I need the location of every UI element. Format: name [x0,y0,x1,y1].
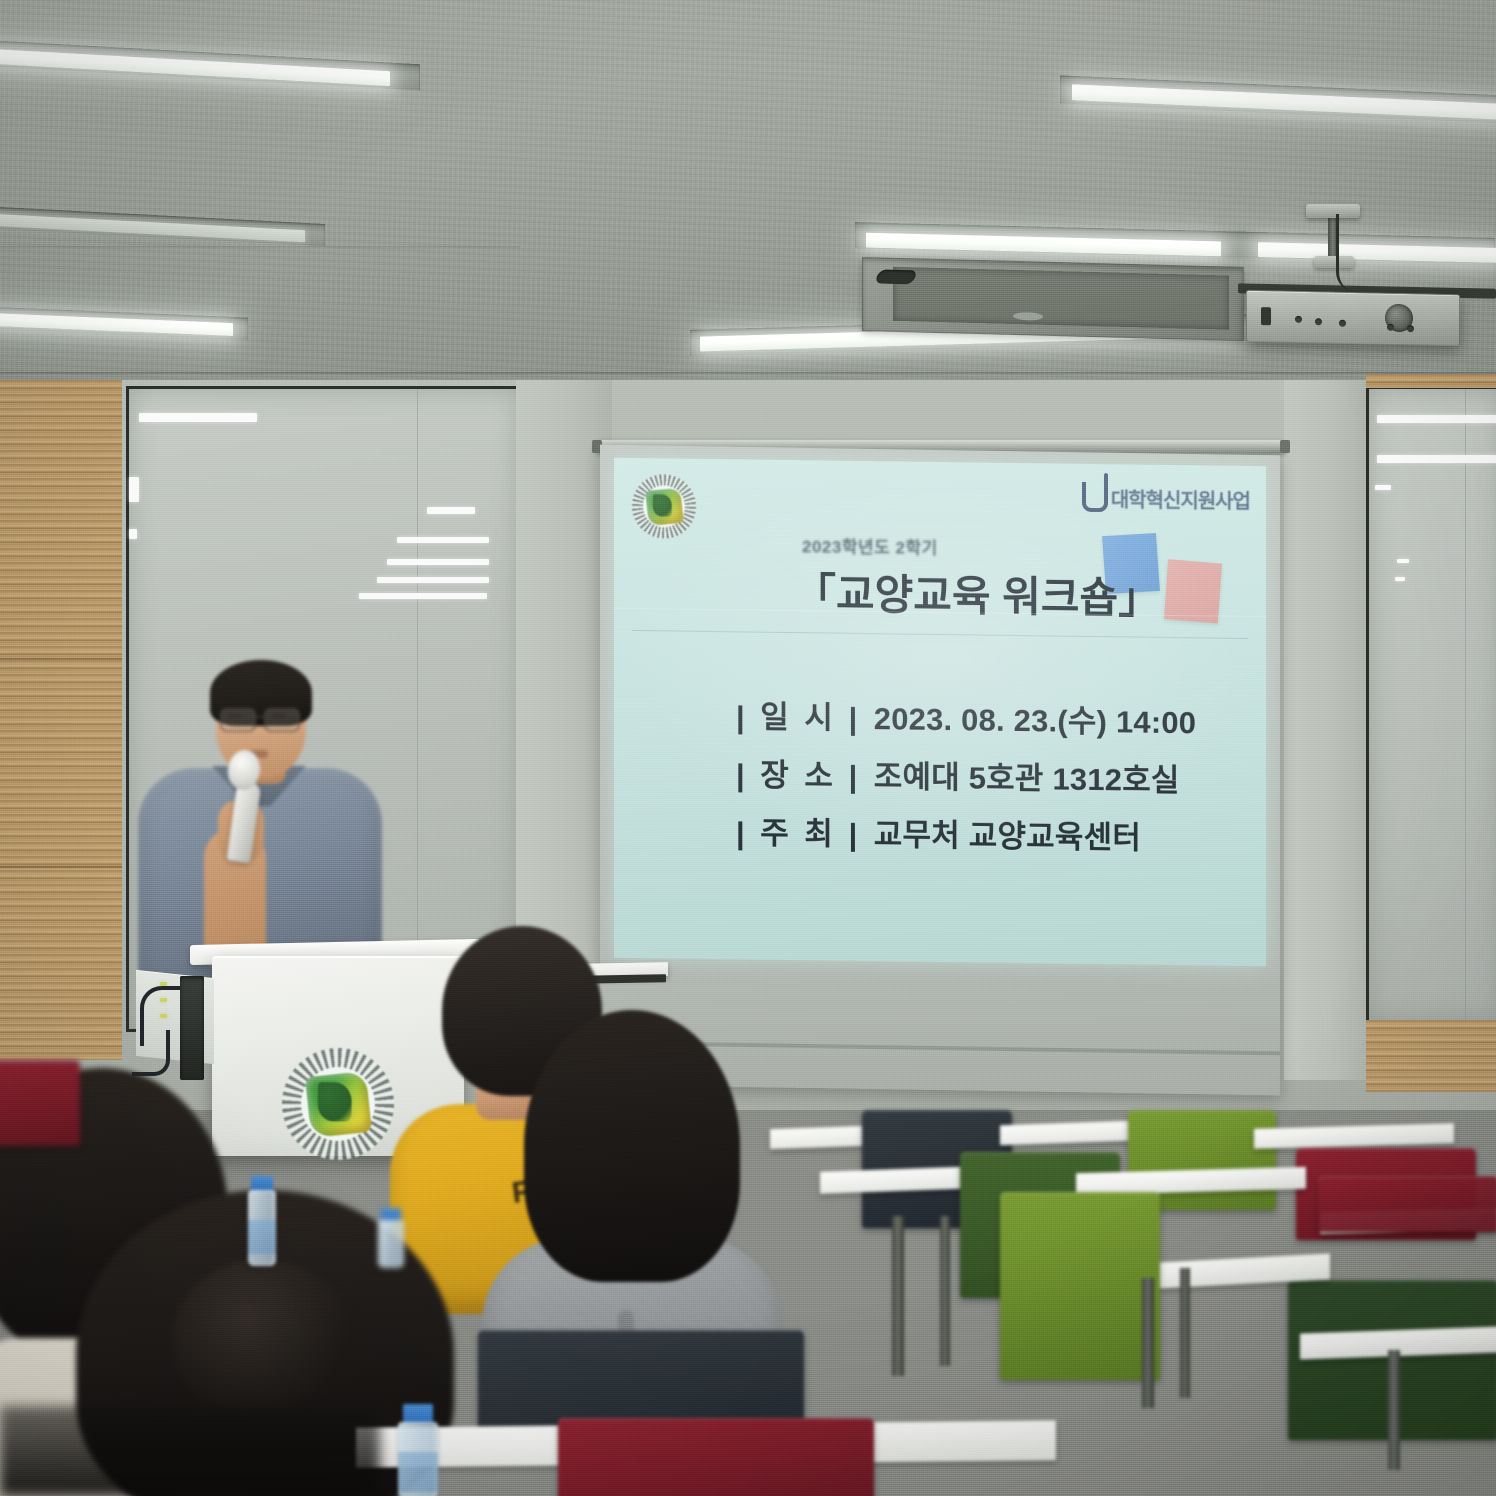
chair-post [1180,1268,1190,1398]
bottle-label [248,1220,276,1254]
slide-scanline [614,928,1266,938]
slide-info-row: | 일 시 |2023. 08. 23.(수) 14:00 [736,691,1196,742]
hvac-vent [862,257,1244,341]
slide-divider [632,630,1248,639]
hvac-vent-grille [893,267,1229,330]
bottle-body [398,1422,438,1496]
chair [1000,1192,1160,1380]
daegu-university-seal-icon [632,474,696,539]
uis-u-mark-icon [1082,482,1108,512]
chair [0,1060,80,1146]
whiteboard-reflection [387,559,489,565]
wood-wall-panel [0,380,122,1060]
whiteboard-reflection [397,537,489,543]
whiteboard-reflection [1375,485,1391,490]
wood-panel-seam [0,866,122,868]
slide-info-label: | 주 최 | [736,815,861,852]
seal-emblem-shape [305,1071,371,1137]
slide-subtitle: 2023학년도 2학기 [802,532,938,559]
whiteboard-reflection [377,577,489,583]
whiteboard-reflection [1395,577,1405,581]
bottle-body [378,1220,404,1268]
screen-roller-end [1280,440,1290,453]
projector-vent-dot [1387,324,1394,331]
whiteboard-reflection [1377,415,1496,423]
desk-leg [1388,1350,1400,1470]
projector-port [1261,307,1271,325]
decor-square-pink [1164,559,1222,623]
slide-info-label: | 장 소 | [736,757,861,794]
attendee-hair-highlight [172,1260,352,1420]
ceiling [0,0,1496,392]
bottle-cap [403,1404,433,1424]
slide-info-row: | 주 최 |교무처 교양교육센터 [736,807,1141,857]
whiteboard-divider [1465,389,1466,1021]
whiteboard-reflection [1377,455,1496,463]
projector-vent-dot [1407,325,1414,332]
chair [1318,1176,1496,1232]
slide-info-row: | 장 소 |조예대 5호관 1312호실 [736,749,1180,800]
wood-wall-panel-right [1366,1020,1496,1092]
glasses-bridge-icon [252,716,264,718]
podium-equipment-slot [180,976,204,1080]
whiteboard-reflection [427,507,475,514]
ceiling-seam [0,246,520,248]
chair-post [1142,1278,1154,1408]
whiteboard-reflection [129,477,139,502]
projector-cable [1336,214,1361,292]
wood-trim-right [1366,374,1496,388]
ceiling-seam [0,372,1496,374]
desk [1254,1123,1454,1149]
whiteboard-right [1366,386,1496,1024]
glasses-right-lens-icon [264,708,300,732]
chair-post [892,1216,904,1376]
whiteboard-reflection [359,593,487,599]
slide-info-label: | 일 시 | [736,699,861,736]
chair-foreground-maroon [558,1418,874,1496]
presenter-eye [272,714,286,718]
presenter-eye [228,714,242,718]
projector-vent-dot [1295,316,1302,323]
wall-column-right [1284,380,1368,1080]
presenter [120,650,420,990]
bottle-label [398,1452,438,1492]
slide-info-value: 교무처 교양교육센터 [874,817,1141,855]
uis-logo-text: 대학혁신지원사업 [1111,483,1250,514]
bottle-cap [251,1176,273,1191]
wood-panel-seam [0,658,122,660]
seal-emblem-shape [645,488,683,526]
whiteboard-reflection [129,529,137,539]
slide-info-value: 2023. 08. 23.(수) 14:00 [874,701,1196,740]
bottle-body [248,1190,276,1266]
lecture-hall-photo: 대학혁신지원사업 2023학년도 2학기 「교양교육 워크숍」 | 일 시 |2… [0,0,1496,1496]
projector [1246,290,1460,346]
chair-post [940,1216,950,1366]
glasses-left-lens-icon [220,708,256,732]
foreground-shadow [0,1406,380,1496]
presentation-slide: 대학혁신지원사업 2023학년도 2학기 「교양교육 워크숍」 | 일 시 |2… [614,458,1266,967]
university-innovation-logo: 대학혁신지원사업 [1082,482,1250,514]
whiteboard-reflection [1397,559,1409,563]
attendee-hair [524,1010,740,1282]
slide-info-value: 조예대 5호관 1312호실 [874,759,1180,798]
projector-vent-dot [1339,320,1346,327]
projector-vent-dot [1315,318,1322,325]
slide-title: 「교양교육 워크숍」 [794,560,1160,626]
whiteboard-reflection [139,413,257,422]
